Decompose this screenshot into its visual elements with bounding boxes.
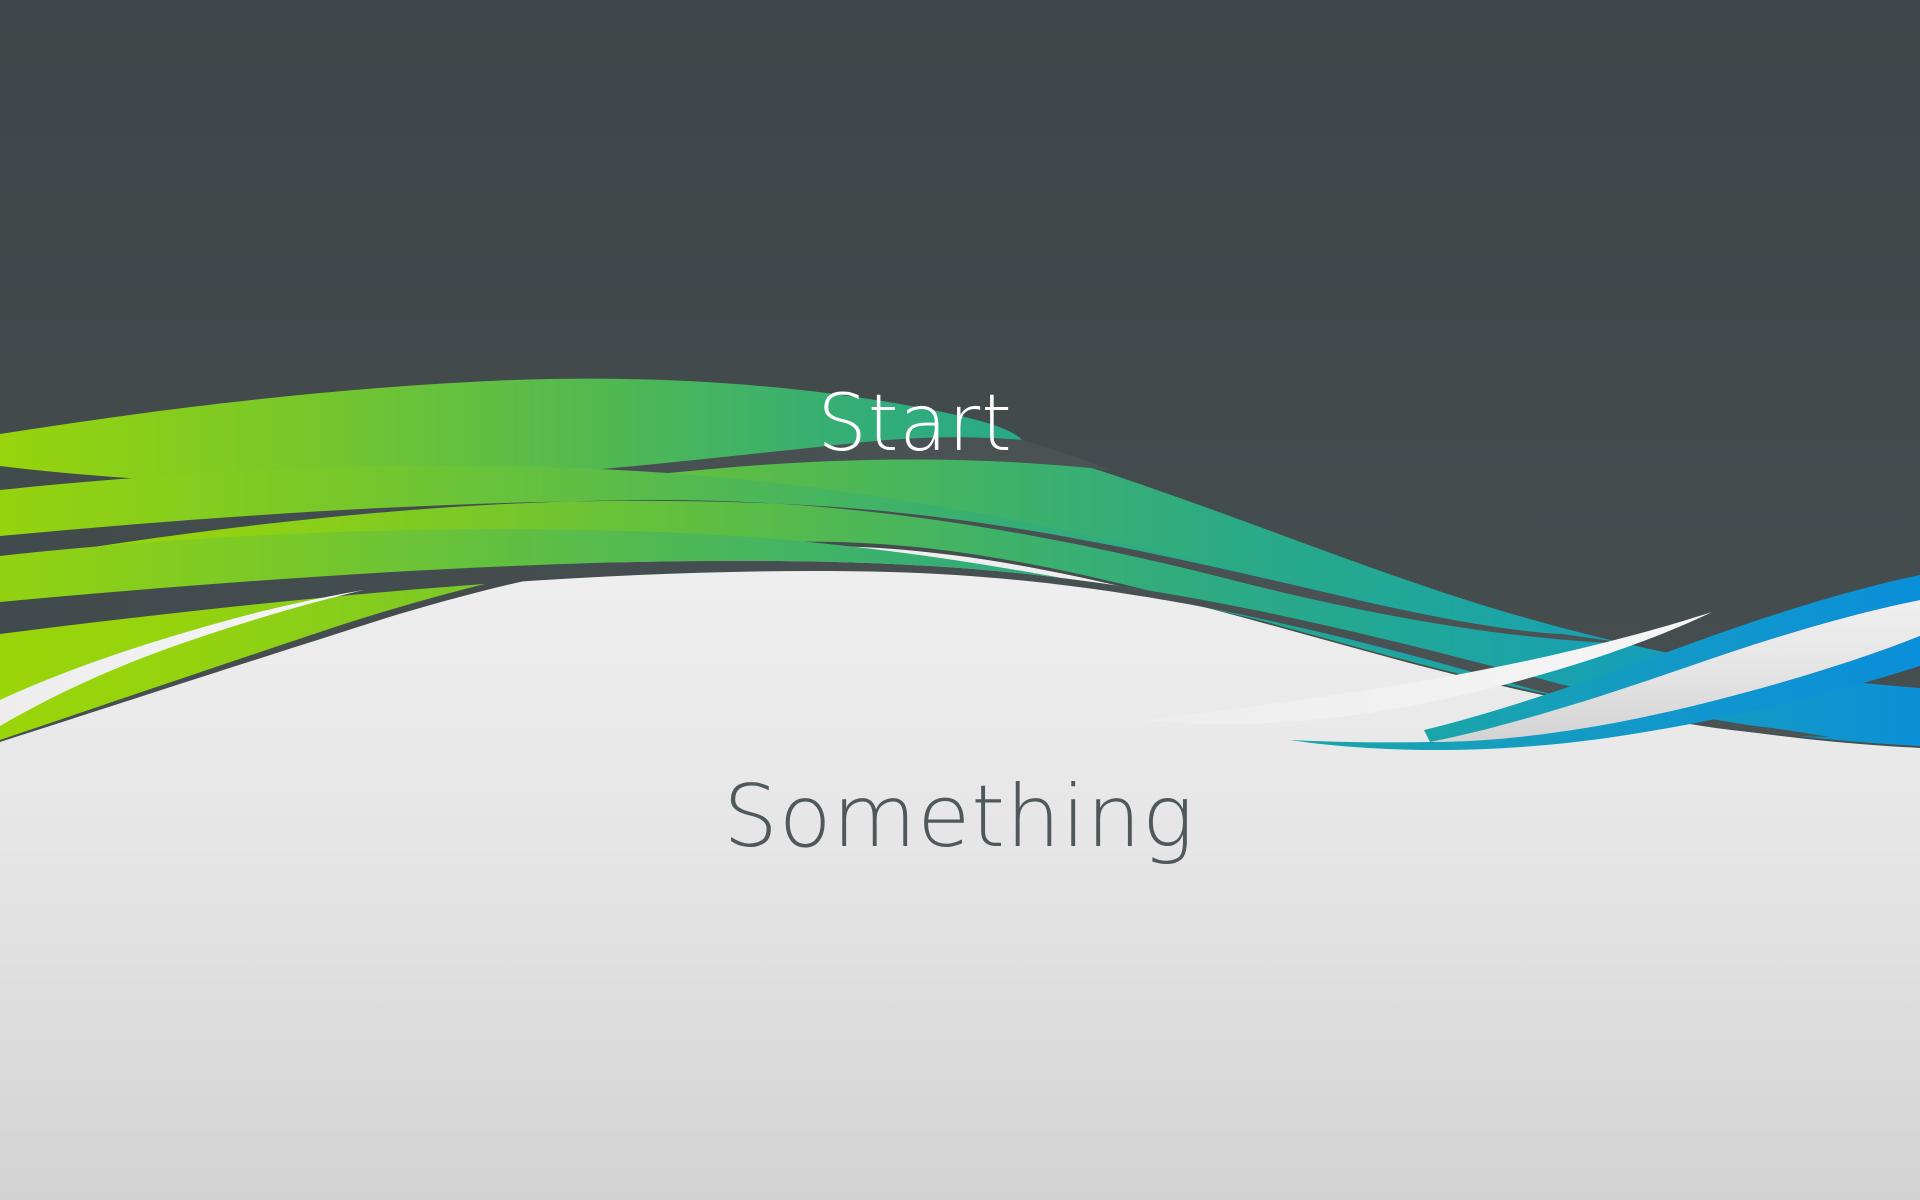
abstract-wave-artwork <box>0 0 1920 1200</box>
wallpaper-canvas: Start Something <box>0 0 1920 1200</box>
final-composition <box>0 0 1920 1200</box>
page-title-something: Something <box>0 770 1919 864</box>
page-title-start: Start <box>0 382 1875 466</box>
